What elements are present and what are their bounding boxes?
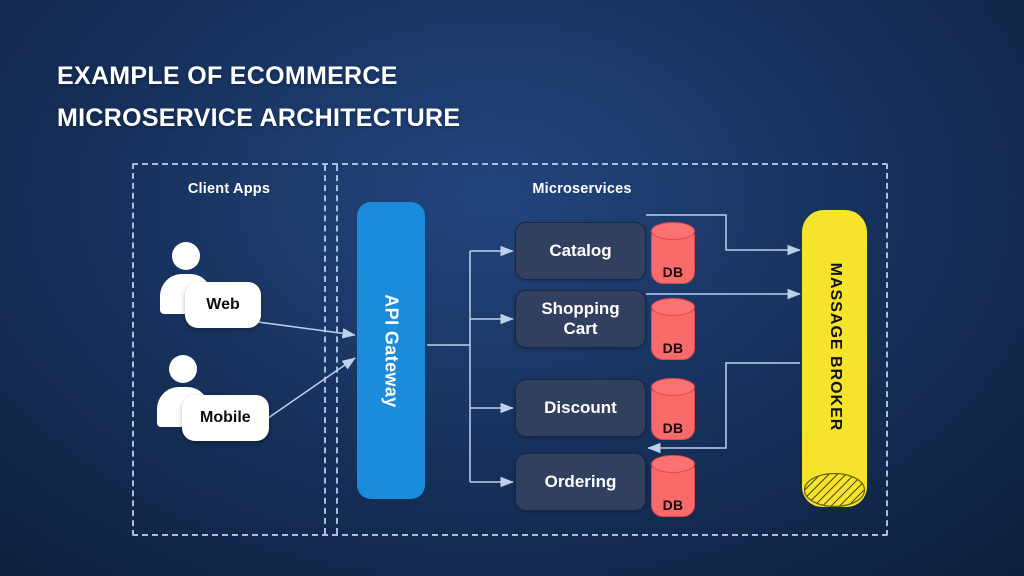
database-icon-catalog[interactable]: DB bbox=[651, 222, 695, 284]
diagram-canvas: EXAMPLE OF ECOMMERCE MICROSERVICE ARCHIT… bbox=[0, 0, 1024, 576]
database-top bbox=[651, 298, 695, 316]
service-node-ordering[interactable]: Ordering bbox=[515, 453, 646, 511]
client-app-mobile-label: Mobile bbox=[182, 395, 269, 441]
database-top bbox=[651, 455, 695, 473]
service-label: Shopping Cart bbox=[541, 299, 619, 339]
database-label: DB bbox=[651, 264, 695, 280]
message-broker-pipe-end-icon bbox=[804, 473, 865, 507]
user-icon-head bbox=[172, 242, 200, 270]
service-label: Ordering bbox=[545, 472, 617, 492]
message-broker-node[interactable]: MASSAGE BROKER bbox=[802, 210, 867, 507]
database-label: DB bbox=[651, 497, 695, 513]
client-app-mobile[interactable]: Mobile bbox=[157, 355, 329, 463]
user-icon-head bbox=[169, 355, 197, 383]
client-app-web[interactable]: Web bbox=[160, 242, 332, 350]
database-top bbox=[651, 222, 695, 240]
service-node-discount[interactable]: Discount bbox=[515, 379, 646, 437]
api-gateway-label: API Gateway bbox=[381, 294, 402, 407]
service-node-catalog[interactable]: Catalog bbox=[515, 222, 646, 280]
client-app-web-label: Web bbox=[185, 282, 261, 328]
database-label: DB bbox=[651, 420, 695, 436]
service-label: Discount bbox=[544, 398, 617, 418]
database-icon-discount[interactable]: DB bbox=[651, 378, 695, 440]
wire-gateway-trunk-upper bbox=[427, 251, 470, 345]
service-label: Catalog bbox=[549, 241, 611, 261]
connector-layer bbox=[0, 0, 1024, 576]
api-gateway-node[interactable]: API Gateway bbox=[357, 202, 425, 499]
database-icon-ordering[interactable]: DB bbox=[651, 455, 695, 517]
service-node-shopping-cart[interactable]: Shopping Cart bbox=[515, 290, 646, 348]
message-broker-label: MASSAGE BROKER bbox=[826, 262, 844, 431]
database-top bbox=[651, 378, 695, 396]
database-icon-shopping-cart[interactable]: DB bbox=[651, 298, 695, 360]
database-label: DB bbox=[651, 340, 695, 356]
